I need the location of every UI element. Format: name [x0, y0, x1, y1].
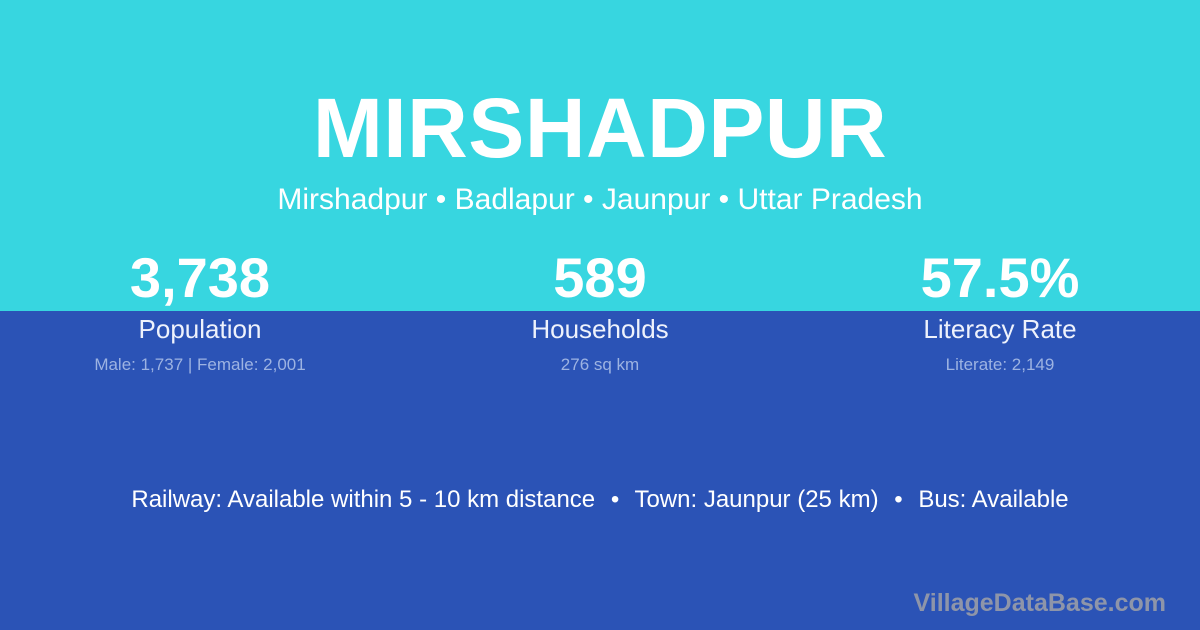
stat-literacy-rate-label: Literacy Rate	[800, 313, 1200, 345]
page-title: MIRSHADPUR	[0, 82, 1200, 174]
stat-households-detail: 276 sq km	[400, 354, 800, 376]
stat-population-value: 3,738	[0, 245, 400, 311]
info-railway: Railway: Available within 5 - 10 km dist…	[131, 486, 595, 513]
info-town: Town: Jaunpur (25 km)	[634, 486, 878, 513]
stat-literacy-rate: 57.5% Literacy Rate Literate: 2,149	[800, 245, 1200, 376]
stats-row: 3,738 Population Male: 1,737 | Female: 2…	[0, 245, 1200, 376]
stat-population-detail: Male: 1,737 | Female: 2,001	[0, 354, 400, 376]
stat-literacy-rate-detail: Literate: 2,149	[800, 354, 1200, 376]
stat-population: 3,738 Population Male: 1,737 | Female: 2…	[0, 245, 400, 376]
info-bus: Bus: Available	[918, 486, 1068, 513]
info-separator-1: •	[602, 485, 628, 515]
village-info-card: MIRSHADPUR Mirshadpur • Badlapur • Jaunp…	[0, 0, 1200, 630]
transport-info-line: Railway: Available within 5 - 10 km dist…	[0, 485, 1200, 515]
info-separator-2: •	[885, 485, 911, 515]
stat-literacy-rate-value: 57.5%	[800, 245, 1200, 311]
stat-households-label: Households	[400, 313, 800, 345]
breadcrumb: Mirshadpur • Badlapur • Jaunpur • Uttar …	[0, 182, 1200, 218]
stat-households-value: 589	[400, 245, 800, 311]
stat-households: 589 Households 276 sq km	[400, 245, 800, 376]
stat-population-label: Population	[0, 313, 400, 345]
brand-watermark: VillageDataBase.com	[914, 588, 1166, 618]
